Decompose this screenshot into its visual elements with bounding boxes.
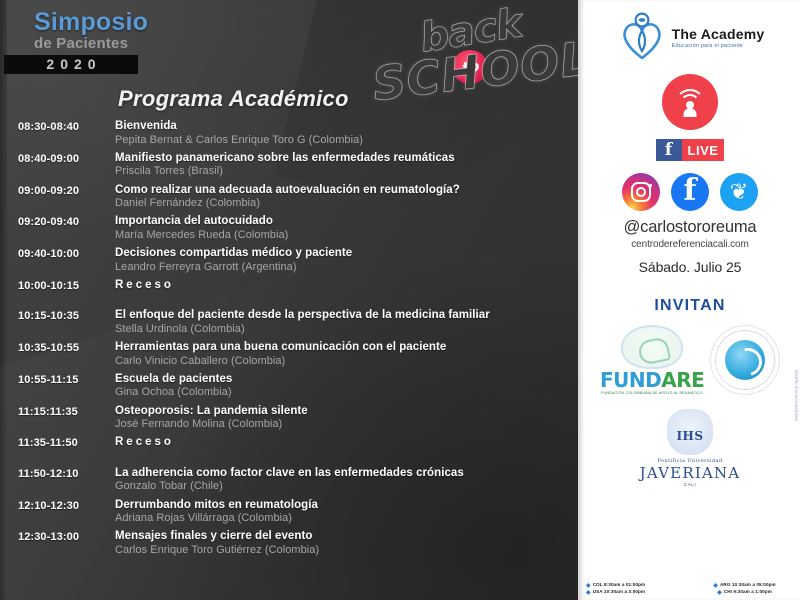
schedule-info: La adherencia como factor clave en las e… bbox=[115, 467, 578, 494]
fundare-word-part1: FUND bbox=[600, 368, 661, 392]
brand-subtitle: de Pacientes bbox=[34, 35, 148, 52]
academy-tagline: Educación para el paciente bbox=[672, 43, 765, 49]
social-links: f ❦ bbox=[580, 173, 800, 211]
timezone-label: CHI 9:30am a 1:00pm bbox=[724, 589, 772, 596]
fundare-tagline: FUNDACIÓN COLOMBIANA DE APOYO AL REUMÁTI… bbox=[600, 391, 704, 395]
schedule-speaker: Adriana Rojas Villárraga (Colombia) bbox=[115, 512, 568, 525]
schedule-speaker: Carlos Enrique Toro Gutiérrez (Colombia) bbox=[115, 544, 568, 557]
vertical-credit: Diseño Comunicaciones bbox=[794, 370, 799, 421]
schedule-title: Decisiones compartidas médico y paciente bbox=[115, 247, 568, 261]
schedule-title: Escuela de pacientes bbox=[115, 373, 568, 387]
schedule-row: 08:30-08:40BienvenidaPepita Bernat & Car… bbox=[0, 120, 578, 147]
event-date: Sábado. Julio 25 bbox=[580, 259, 800, 275]
schedule-title: Importancia del autocuidado bbox=[115, 215, 568, 229]
broadcast-person-body bbox=[684, 108, 697, 117]
timezone-label: USA 10:30am a 3:00pm bbox=[593, 589, 645, 596]
schedule-info: Mensajes finales y cierre del eventoCarl… bbox=[115, 530, 578, 557]
schedule-time: 08:40-09:00 bbox=[18, 152, 115, 165]
schedule-title: Bienvenida bbox=[115, 120, 568, 134]
schedule-info: Receso bbox=[115, 279, 578, 293]
instagram-icon[interactable] bbox=[622, 173, 660, 211]
schedule-speaker: Pepita Bernat & Carlos Enrique Toro G (C… bbox=[115, 134, 568, 147]
schedule-info: Como realizar una adecuada autoevaluació… bbox=[115, 184, 578, 211]
circular-seal-logo bbox=[710, 325, 780, 395]
schedule-row: 11:15:11:35Osteoporosis: La pandemia sil… bbox=[0, 405, 578, 432]
schedule-title: El enfoque del paciente desde la perspec… bbox=[115, 309, 568, 323]
seal-swirl-icon bbox=[725, 340, 765, 380]
poster-root: Simposio de Pacientes 2020 Programa Acad… bbox=[0, 0, 800, 600]
schedule-list: 08:30-08:40BienvenidaPepita Bernat & Car… bbox=[0, 120, 578, 562]
schedule-speaker: Priscila Torres (Brasil) bbox=[115, 165, 568, 178]
timezone-column-right: ◆ARG 10:30am a 05:00pm◆CHI 9:30am a 1:00… bbox=[693, 582, 796, 596]
invitan-heading: INVITAN bbox=[580, 297, 800, 315]
timezone-label: ARG 10:30am a 05:00pm bbox=[720, 582, 776, 589]
facebook-icon-round[interactable]: f bbox=[671, 173, 709, 211]
fundare-wordmark: FUNDARE bbox=[600, 370, 704, 390]
schedule-time: 11:50-12:10 bbox=[18, 467, 115, 480]
timezone-line: ◆ARG 10:30am a 05:00pm bbox=[693, 582, 796, 589]
facebook-icon: f bbox=[656, 139, 682, 161]
timezone-footer: ◆COL 8:30am a 01:00pm◆USA 10:30am a 3:00… bbox=[586, 582, 796, 596]
javeriana-crest-icon: IHS bbox=[667, 409, 713, 455]
schedule-row: 11:50-12:10La adherencia como factor cla… bbox=[0, 467, 578, 494]
timezone-bullet-icon: ◆ bbox=[586, 590, 591, 596]
info-sidebar: The Academy Educación para el paciente f… bbox=[578, 0, 800, 600]
timezone-line: ◆COL 8:30am a 01:00pm bbox=[586, 582, 689, 589]
schedule-title: Como realizar una adecuada autoevaluació… bbox=[115, 184, 568, 198]
schedule-info: Derrumbando mitos en reumatologíaAdriana… bbox=[115, 499, 578, 526]
schedule-speaker: María Mercedes Rueda (Colombia) bbox=[115, 229, 568, 242]
schedule-info: Escuela de pacientesGina Ochoa (Colombia… bbox=[115, 373, 578, 400]
schedule-speaker: Gina Ochoa (Colombia) bbox=[115, 386, 568, 399]
schedule-title: Osteoporosis: La pandemia silente bbox=[115, 405, 568, 419]
schedule-row: 12:30-13:00Mensajes finales y cierre del… bbox=[0, 530, 578, 557]
schedule-time: 11:15:11:35 bbox=[18, 405, 115, 418]
schedule-info: Osteoporosis: La pandemia silenteJosé Fe… bbox=[115, 405, 578, 432]
schedule-row: 10:15-10:35El enfoque del paciente desde… bbox=[0, 309, 578, 336]
schedule-time: 10:35-10:55 bbox=[18, 341, 115, 354]
schedule-speaker: Leandro Ferreyra Garrott (Argentina) bbox=[115, 261, 568, 274]
live-broadcast-icon bbox=[662, 74, 718, 130]
timezone-line: ◆USA 10:30am a 3:00pm bbox=[586, 589, 689, 596]
javeriana-logo: IHS Pontificia Universidad JAVERIANA CAL… bbox=[580, 409, 800, 487]
fundare-word-part2: ARE bbox=[661, 368, 704, 392]
program-panel: Simposio de Pacientes 2020 Programa Acad… bbox=[0, 0, 578, 600]
schedule-time: 10:15-10:35 bbox=[18, 309, 115, 322]
schedule-row: 11:35-11:50Receso bbox=[0, 436, 578, 450]
schedule-time: 09:20-09:40 bbox=[18, 215, 115, 228]
schedule-title: Receso bbox=[115, 436, 568, 450]
brand-year: 2020 bbox=[40, 56, 101, 72]
brand-year-bar: 2020 bbox=[4, 55, 138, 74]
schedule-title: Receso bbox=[115, 279, 568, 293]
facebook-live-badge[interactable]: f LIVE bbox=[580, 139, 800, 161]
heart-logo-icon bbox=[616, 12, 668, 64]
schedule-row: 09:20-09:40Importancia del autocuidadoMa… bbox=[0, 215, 578, 242]
schedule-title: La adherencia como factor clave en las e… bbox=[115, 467, 568, 481]
schedule-row: 10:00-10:15Receso bbox=[0, 279, 578, 293]
schedule-info: El enfoque del paciente desde la perspec… bbox=[115, 309, 578, 336]
schedule-info: Herramientas para una buena comunicación… bbox=[115, 341, 578, 368]
schedule-info: BienvenidaPepita Bernat & Carlos Enrique… bbox=[115, 120, 578, 147]
schedule-time: 11:35-11:50 bbox=[18, 436, 115, 449]
sponsor-logos: FUNDARE FUNDACIÓN COLOMBIANA DE APOYO AL… bbox=[580, 325, 800, 395]
schedule-time: 09:00-09:20 bbox=[18, 184, 115, 197]
timezone-column-left: ◆COL 8:30am a 01:00pm◆USA 10:30am a 3:00… bbox=[586, 582, 689, 596]
academy-logo: The Academy Educación para el paciente bbox=[580, 12, 800, 64]
schedule-info: Decisiones compartidas médico y paciente… bbox=[115, 247, 578, 274]
schedule-speaker: Daniel Fernández (Colombia) bbox=[115, 197, 568, 210]
schedule-row: 09:00-09:20Como realizar una adecuada au… bbox=[0, 184, 578, 211]
schedule-title: Manifiesto panamericano sobre las enferm… bbox=[115, 152, 568, 166]
schedule-info: Importancia del autocuidadoMaría Mercede… bbox=[115, 215, 578, 242]
brand-simposio: Simposio bbox=[34, 10, 148, 36]
schedule-title: Herramientas para una buena comunicación… bbox=[115, 341, 568, 355]
schedule-speaker: Stella Urdinola (Colombia) bbox=[115, 323, 568, 336]
timezone-bullet-icon: ◆ bbox=[586, 583, 591, 589]
live-label: LIVE bbox=[682, 139, 725, 161]
schedule-time: 08:30-08:40 bbox=[18, 120, 115, 133]
schedule-speaker: José Fernando Molina (Colombia) bbox=[115, 418, 568, 431]
schedule-time: 10:55-11:15 bbox=[18, 373, 115, 386]
schedule-time: 09:40-10:00 bbox=[18, 247, 115, 260]
website-url[interactable]: centrodereferenciacali.com bbox=[580, 239, 800, 250]
timezone-bullet-icon: ◆ bbox=[717, 590, 722, 596]
schedule-row: 08:40-09:00Manifiesto panamericano sobre… bbox=[0, 152, 578, 179]
timezone-line: ◆CHI 9:30am a 1:00pm bbox=[693, 589, 796, 596]
schedule-title: Derrumbando mitos en reumatología bbox=[115, 499, 568, 513]
schedule-row: 09:40-10:00Decisiones compartidas médico… bbox=[0, 247, 578, 274]
javeriana-name: JAVERIANA bbox=[580, 464, 800, 482]
javeriana-city: CALI bbox=[580, 482, 800, 487]
social-handle[interactable]: @carlostororeuma bbox=[580, 218, 800, 237]
schedule-row: 10:55-11:15Escuela de pacientesGina Ocho… bbox=[0, 373, 578, 400]
javeriana-ihs: IHS bbox=[667, 429, 713, 443]
academy-name: The Academy bbox=[672, 27, 765, 41]
twitter-icon[interactable]: ❦ bbox=[720, 173, 758, 211]
schedule-time: 12:30-13:00 bbox=[18, 530, 115, 543]
timezone-bullet-icon: ◆ bbox=[713, 583, 718, 589]
event-brand: Simposio de Pacientes 2020 bbox=[34, 10, 148, 74]
schedule-time: 12:10-12:30 bbox=[18, 499, 115, 512]
schedule-time: 10:00-10:15 bbox=[18, 279, 115, 292]
page-title: Programa Académico bbox=[118, 86, 349, 112]
schedule-speaker: Carlo Vinicio Caballero (Colombia) bbox=[115, 355, 568, 368]
schedule-row: 12:10-12:30Derrumbando mitos en reumatol… bbox=[0, 499, 578, 526]
schedule-info: Manifiesto panamericano sobre las enferm… bbox=[115, 152, 578, 179]
fundare-logo: FUNDARE FUNDACIÓN COLOMBIANA DE APOYO AL… bbox=[600, 325, 704, 395]
schedule-speaker: Gonzalo Tobar (Chile) bbox=[115, 480, 568, 493]
schedule-title: Mensajes finales y cierre del evento bbox=[115, 530, 568, 544]
schedule-row: 10:35-10:55Herramientas para una buena c… bbox=[0, 341, 578, 368]
fundare-hands-icon bbox=[621, 325, 683, 369]
timezone-label: COL 8:30am a 01:00pm bbox=[593, 582, 645, 589]
schedule-info: Receso bbox=[115, 436, 578, 450]
